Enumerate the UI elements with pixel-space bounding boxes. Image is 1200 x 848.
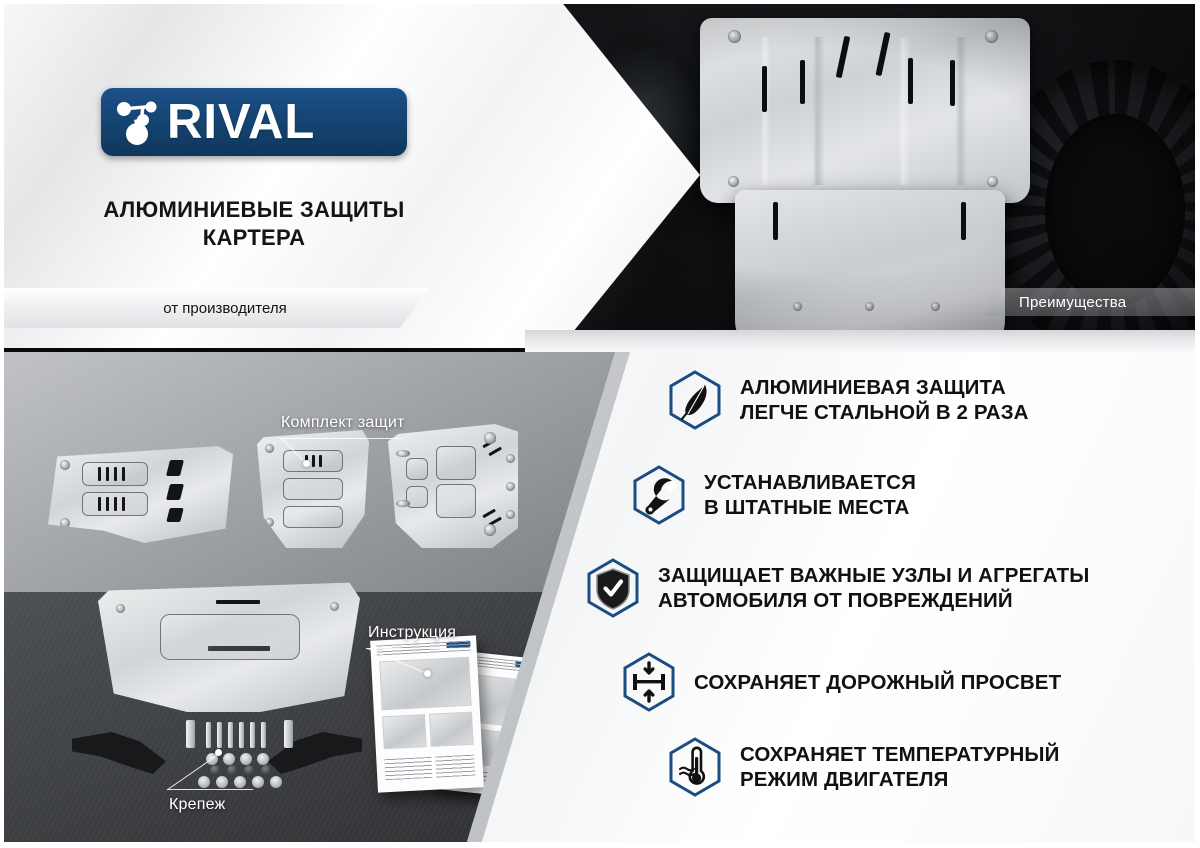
feature-text-fitment: УСТАНАВЛИВАЕТСЯ В ШТАТНЫЕ МЕСТА — [704, 470, 916, 520]
feature-item-weight: АЛЮМИНИЕВАЯ ЗАЩИТА ЛЕГЧЕ СТАЛЬНОЙ В 2 РА… — [668, 370, 1029, 430]
rival-logo[interactable]: RIVAL — [101, 88, 407, 156]
brand-wordmark: RIVAL — [167, 98, 315, 147]
installed-skid-plate-upper — [700, 18, 1030, 203]
thermometer-icon — [668, 737, 722, 797]
poster-root: RIVAL АЛЮМИНИЕВЫЕ ЗАЩИТЫ КАРТЕРА от прои… — [0, 0, 1200, 848]
feature-item-clearance: СОХРАНЯЕТ ДОРОЖНЫЙ ПРОСВЕТ — [622, 652, 1061, 712]
photo-baseline-strip — [525, 330, 1200, 352]
molecule-icon — [107, 91, 169, 153]
label-instruction: Инструкция — [368, 624, 456, 642]
feature-item-temperature: СОХРАНЯЕТ ТЕМПЕРАТУРНЫЙ РЕЖИМ ДВИГАТЕЛЯ — [668, 737, 1059, 797]
subtitle-text: от производителя — [163, 300, 286, 317]
feather-icon — [668, 370, 722, 430]
page-title: АЛЮМИНИЕВЫЕ ЗАЩИТЫ КАРТЕРА — [101, 196, 407, 252]
feature-text-temperature: СОХРАНЯЕТ ТЕМПЕРАТУРНЫЙ РЕЖИМ ДВИГАТЕЛЯ — [740, 742, 1059, 792]
feature-text-protection: ЗАЩИЩАЕТ ВАЖНЫЕ УЗЛЫ И АГРЕГАТЫ АВТОМОБИ… — [658, 563, 1089, 613]
advantages-tab[interactable]: Преимущества — [985, 288, 1200, 316]
ground-clearance-icon — [622, 652, 676, 712]
subtitle-banner: от производителя — [0, 288, 430, 328]
wrench-icon — [632, 465, 686, 525]
feature-text-clearance: СОХРАНЯЕТ ДОРОЖНЫЙ ПРОСВЕТ — [694, 670, 1061, 695]
label-kit: Комплект защит — [281, 414, 405, 432]
feature-item-fitment: УСТАНАВЛИВАЕТСЯ В ШТАТНЫЕ МЕСТА — [632, 465, 916, 525]
label-fasteners: Крепеж — [169, 796, 225, 814]
feature-text-weight: АЛЮМИНИЕВАЯ ЗАЩИТА ЛЕГЧЕ СТАЛЬНОЙ В 2 РА… — [740, 375, 1029, 425]
feature-item-protection: ЗАЩИЩАЕТ ВАЖНЫЕ УЗЛЫ И АГРЕГАТЫ АВТОМОБИ… — [586, 558, 1089, 618]
hero-section: RIVAL АЛЮМИНИЕВЫЕ ЗАЩИТЫ КАРТЕРА от прои… — [0, 0, 1200, 360]
product-section: Комплект защит Инструкция Крепеж — [0, 352, 1200, 848]
shield-check-icon — [586, 558, 640, 618]
advantages-tab-label: Преимущества — [1019, 294, 1126, 311]
